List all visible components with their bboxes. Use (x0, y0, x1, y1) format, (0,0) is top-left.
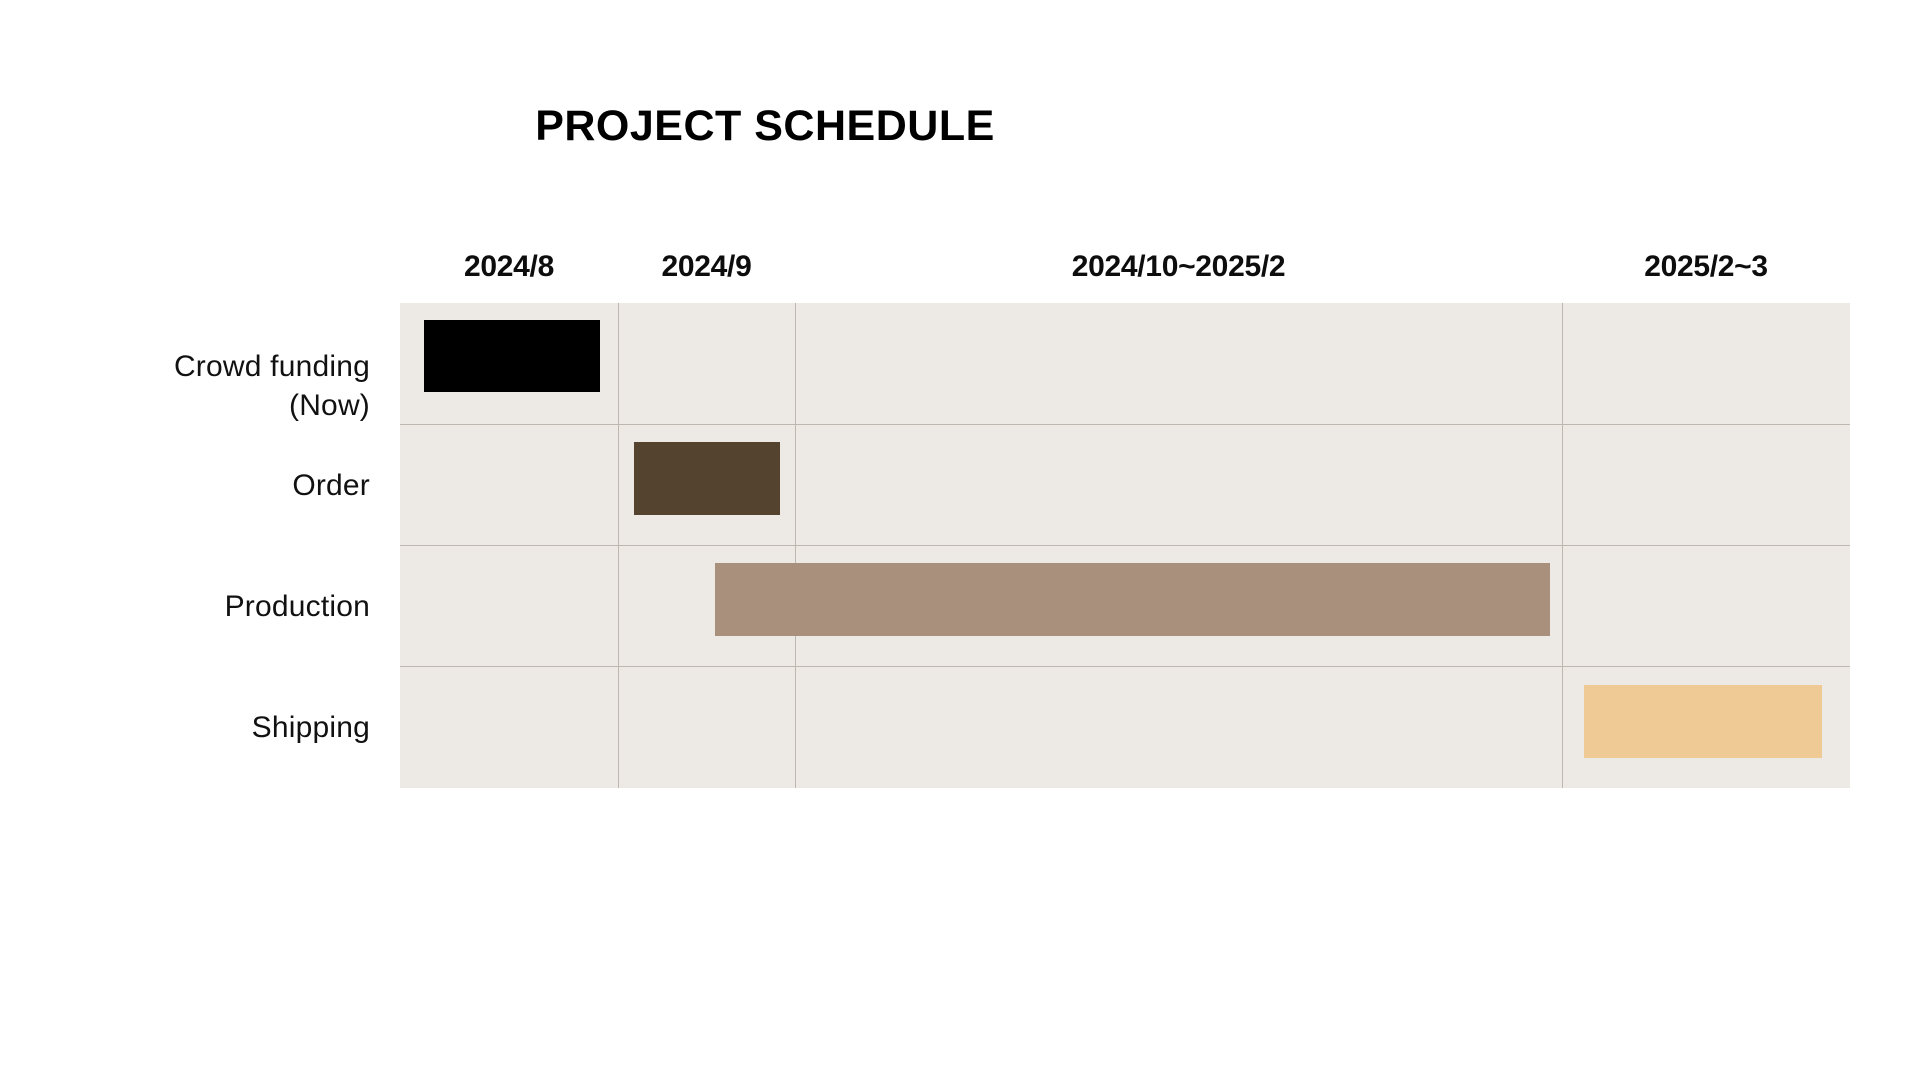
gantt-chart: 2024/8 2024/9 2024/10~2025/2 2025/2~3 Cr… (0, 0, 1920, 1080)
row-label-production: Production (40, 587, 370, 626)
row-label-order-line1: Order (40, 466, 370, 505)
gantt-bar-shipping[interactable] (1584, 685, 1822, 758)
row-label-production-line1: Production (40, 587, 370, 626)
row-label-crowd-funding-line2: (Now) (40, 386, 370, 425)
gantt-bar-crowd-funding[interactable] (424, 320, 600, 392)
column-divider-1 (618, 303, 619, 788)
column-header-2024-10-2025-2: 2024/10~2025/2 (795, 246, 1562, 296)
row-label-order: Order (40, 466, 370, 505)
column-header-2025-2-3: 2025/2~3 (1562, 246, 1850, 296)
column-header-2024-8: 2024/8 (400, 246, 618, 296)
column-divider-3 (1562, 303, 1563, 788)
row-label-shipping-line1: Shipping (40, 708, 370, 747)
column-header-row: 2024/8 2024/9 2024/10~2025/2 2025/2~3 (400, 246, 1850, 296)
row-label-crowd-funding: Crowd funding (Now) (40, 347, 370, 425)
gantt-bar-production[interactable] (715, 563, 1550, 636)
row-label-shipping: Shipping (40, 708, 370, 747)
column-header-2024-9: 2024/9 (618, 246, 795, 296)
column-divider-2 (795, 303, 796, 788)
gantt-grid (400, 303, 1850, 788)
gantt-bar-order[interactable] (634, 442, 780, 515)
row-label-crowd-funding-line1: Crowd funding (40, 347, 370, 386)
